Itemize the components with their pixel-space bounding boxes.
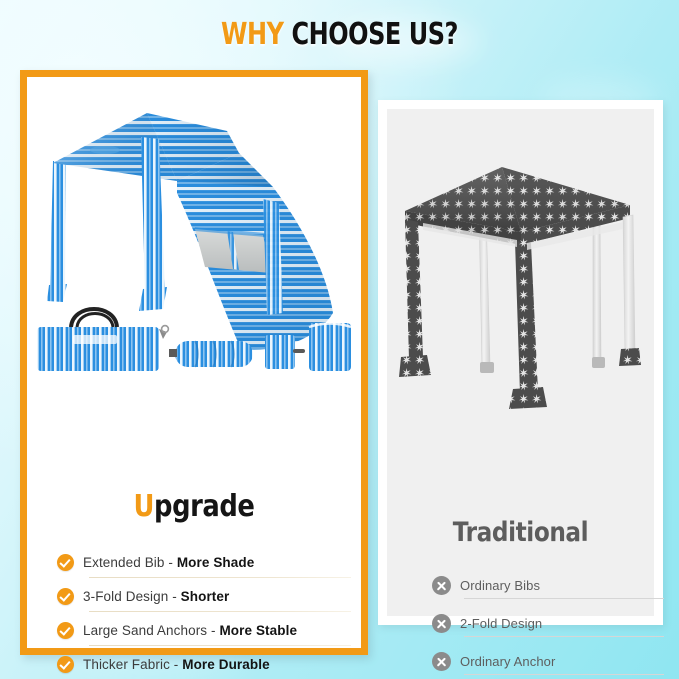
list-item: Thicker Fabric - More Durable: [57, 649, 347, 679]
list-item-label: 2-Fold Design: [460, 616, 542, 631]
divider: [89, 611, 351, 612]
cross-icon: [432, 614, 451, 633]
list-item-highlight: More Shade: [177, 555, 255, 570]
divider: [464, 636, 664, 637]
page-title-accent: WHY: [221, 17, 284, 52]
list-item-label: Thicker Fabric - More Durable: [83, 657, 270, 672]
divider: [89, 645, 351, 646]
upgrade-heading-rest: pgrade: [154, 489, 254, 524]
list-item: Extended Bib - More Shade: [57, 547, 347, 577]
list-item-label: Ordinary Anchor: [460, 654, 555, 669]
list-item-label: Large Sand Anchors - More Stable: [83, 623, 297, 638]
page-title: WHYCHOOSE US?: [68, 17, 611, 52]
traditional-feature-list: Ordinary Bibs 2-Fold Design Ordinary Anc…: [432, 571, 642, 679]
list-item: Ordinary Bibs: [432, 571, 642, 600]
check-icon: [57, 554, 74, 571]
traditional-panel: Traditional Ordinary Bibs 2-Fold Design …: [378, 100, 663, 625]
list-item-label: Extended Bib - More Shade: [83, 555, 254, 570]
list-item: 2-Fold Design: [432, 609, 642, 638]
list-item-label: Ordinary Bibs: [460, 578, 540, 593]
upgrade-heading-accent: U: [134, 489, 155, 524]
traditional-canopy-image: [387, 119, 654, 409]
list-item: Ordinary Anchor: [432, 647, 642, 676]
traditional-panel-surface: Traditional Ordinary Bibs 2-Fold Design …: [387, 109, 654, 616]
list-item-label: 3-Fold Design - Shorter: [83, 589, 229, 604]
list-item-highlight: More Stable: [219, 623, 297, 638]
page-title-main: CHOOSE US?: [292, 17, 458, 52]
list-item-highlight: Shorter: [181, 589, 230, 604]
divider: [89, 577, 351, 578]
comparison-infographic: WHYCHOOSE US?: [0, 0, 679, 679]
list-item: Large Sand Anchors - More Stable: [57, 615, 347, 645]
list-item: 3-Fold Design - Shorter: [57, 581, 347, 611]
upgrade-heading: Upgrade: [50, 489, 337, 524]
upgrade-feature-list: Extended Bib - More Shade 3-Fold Design …: [57, 547, 347, 679]
cross-icon: [432, 576, 451, 595]
traditional-heading: Traditional: [406, 517, 636, 548]
cross-icon: [432, 652, 451, 671]
check-icon: [57, 622, 74, 639]
check-icon: [57, 588, 74, 605]
divider: [464, 598, 664, 599]
check-icon: [57, 656, 74, 673]
divider: [464, 674, 664, 675]
list-item-highlight: More Durable: [182, 657, 269, 672]
upgrade-canopy-image: [27, 77, 361, 407]
upgrade-panel: Upgrade Extended Bib - More Shade 3-Fold…: [20, 70, 368, 655]
